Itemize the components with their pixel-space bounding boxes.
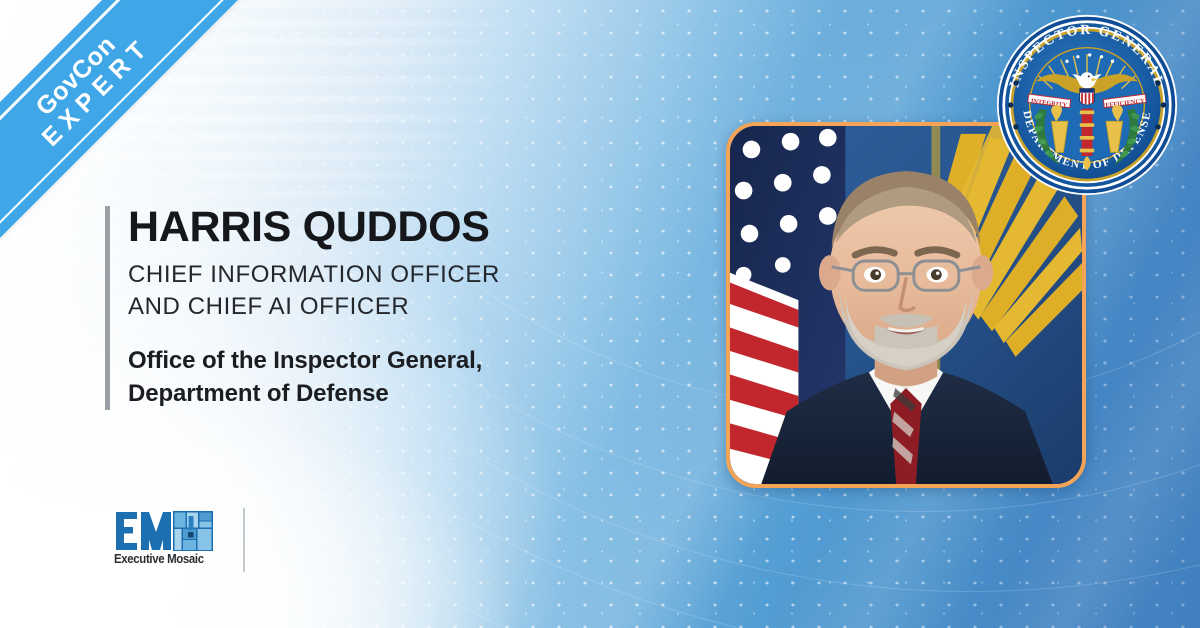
logo-divider [243, 508, 245, 572]
graphic-canvas: INSPECTOR GENERAL DEPARTMENT OF DEFENSE [0, 0, 1200, 628]
organization-line-2: Department of Defense [128, 377, 665, 410]
executive-mosaic-logo[interactable]: Executive Mosaic [114, 508, 214, 568]
dod-inspector-general-seal: INSPECTOR GENERAL DEPARTMENT OF DEFENSE [996, 14, 1178, 196]
person-name: HARRIS QUDDOS [128, 206, 665, 249]
ribbon-text: GovCon EXPERT [14, 14, 156, 156]
executive-mosaic-wordmark: Executive Mosaic [114, 551, 204, 566]
organization-line-1: Office of the Inspector General, [128, 344, 665, 377]
person-title-line-2: AND CHIEF AI OFFICER [128, 291, 665, 323]
organization: Office of the Inspector General, Departm… [128, 344, 665, 410]
seal-illustration: INSPECTOR GENERAL DEPARTMENT OF DEFENSE [996, 14, 1178, 196]
person-title-line-1: CHIEF INFORMATION OFFICER [128, 259, 665, 291]
profile-text-block: HARRIS QUDDOS CHIEF INFORMATION OFFICER … [105, 206, 665, 410]
